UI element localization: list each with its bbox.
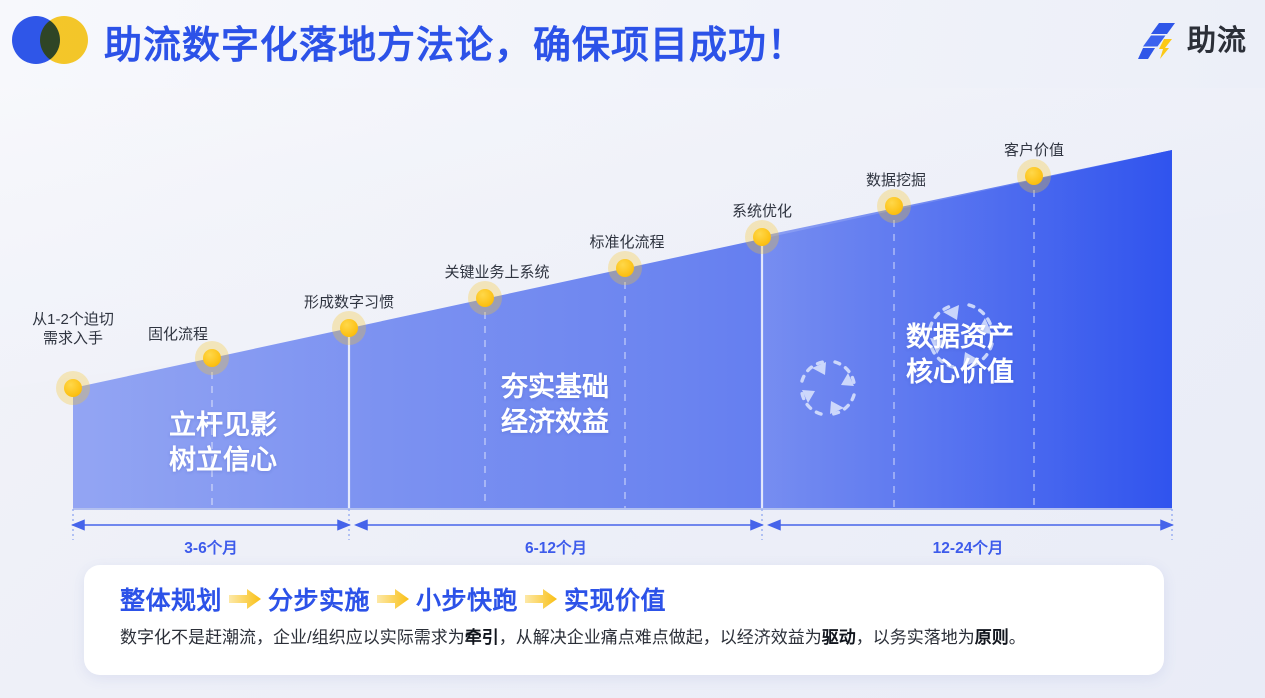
- summary-emphasis: 原则: [975, 628, 1009, 647]
- arrow-head-right: [1161, 521, 1172, 530]
- milestone-label: 固化流程: [148, 325, 208, 344]
- arrow-right-icon: [524, 588, 558, 610]
- milestone-node[interactable]: [1017, 159, 1051, 193]
- stage-title-line: 核心价值: [875, 355, 1045, 390]
- flow-step-2: 分步实施: [268, 581, 370, 617]
- milestone-node[interactable]: [195, 341, 229, 375]
- brand-name: 助流: [1187, 27, 1247, 56]
- flow-step-3: 小步快跑: [416, 581, 518, 617]
- chart-area-svg: [0, 88, 1265, 558]
- milestone-node[interactable]: [877, 189, 911, 223]
- stage-title-3: 数据资产 核心价值: [875, 320, 1045, 390]
- summary-run: 。: [1009, 628, 1026, 647]
- node-dot: [1025, 167, 1043, 185]
- summary-run: ，从解决企业痛点难点做起，以经济效益为: [499, 628, 822, 647]
- milestone-node[interactable]: [745, 220, 779, 254]
- lightning-bolt-icon: [1138, 20, 1180, 62]
- arrow-right-icon: [228, 588, 262, 610]
- logo-circle-yellow: [40, 16, 88, 64]
- flow-steps-row: 整体规划 分步实施 小步快跑 实现价值: [84, 581, 1164, 617]
- arrow-head-left: [73, 521, 84, 530]
- milestone-label: 数据挖掘: [866, 171, 926, 190]
- arrow-head-right: [338, 521, 349, 530]
- arrow-right-icon: [376, 588, 410, 610]
- stage-title-line: 数据资产: [875, 320, 1045, 355]
- node-dot: [753, 228, 771, 246]
- page-title: 助流数字化落地方法论，确保项目成功！: [104, 14, 806, 69]
- phase-duration-2: 6-12个月: [525, 536, 587, 558]
- milestone-label: 标准化流程: [589, 233, 664, 252]
- node-dot: [64, 379, 82, 397]
- milestone-label: 系统优化: [732, 202, 792, 221]
- summary-card: 整体规划 分步实施 小步快跑 实现价值 数字化不是赶潮流，企业/组织应以实际需求…: [84, 565, 1164, 675]
- summary-run: 数字化不是赶潮流，企业/组织应以实际需求为: [120, 628, 465, 647]
- stage-title-2: 夯实基础 经济效益: [470, 370, 640, 440]
- stage-title-line: 夯实基础: [470, 370, 640, 405]
- node-dot: [616, 259, 634, 277]
- summary-run: ，以务实落地为: [856, 628, 975, 647]
- flow-step-4: 实现价值: [564, 581, 666, 617]
- summary-emphasis: 驱动: [822, 628, 856, 647]
- arrow-head-right: [751, 521, 762, 530]
- flow-step-1: 整体规划: [120, 581, 222, 617]
- summary-emphasis: 牵引: [465, 628, 499, 647]
- summary-text: 数字化不是赶潮流，企业/组织应以实际需求为牵引，从解决企业痛点难点做起，以经济效…: [120, 625, 1130, 651]
- methodology-chart: 立杆见影 树立信心 夯实基础 经济效益 数据资产 核心价值: [0, 88, 1265, 558]
- two-overlapping-circles-logo: [12, 12, 96, 68]
- arrow-head-left: [769, 521, 780, 530]
- brand-lockup: 助流: [1138, 18, 1247, 64]
- milestone-node[interactable]: [608, 251, 642, 285]
- stage-title-line: 经济效益: [470, 405, 640, 440]
- phase-duration-1: 3-6个月: [184, 536, 237, 558]
- arrow-head-left: [356, 521, 367, 530]
- node-dot: [340, 319, 358, 337]
- phase-duration-3: 12-24个月: [933, 536, 1004, 558]
- stage-title-line: 树立信心: [138, 443, 308, 478]
- page-header: 助流数字化落地方法论，确保项目成功！ 助流: [0, 0, 1265, 88]
- stage-title-1: 立杆见影 树立信心: [138, 408, 308, 478]
- milestone-node[interactable]: [56, 371, 90, 405]
- milestone-label: 从1-2个迫切需求入手: [25, 310, 121, 348]
- milestone-label: 形成数字习惯: [304, 293, 394, 312]
- node-dot: [203, 349, 221, 367]
- stage-title-line: 立杆见影: [138, 408, 308, 443]
- milestone-label: 关键业务上系统: [444, 263, 549, 282]
- milestone-node[interactable]: [468, 281, 502, 315]
- node-dot: [885, 197, 903, 215]
- milestone-label: 客户价值: [1004, 141, 1064, 160]
- node-dot: [476, 289, 494, 307]
- milestone-node[interactable]: [332, 311, 366, 345]
